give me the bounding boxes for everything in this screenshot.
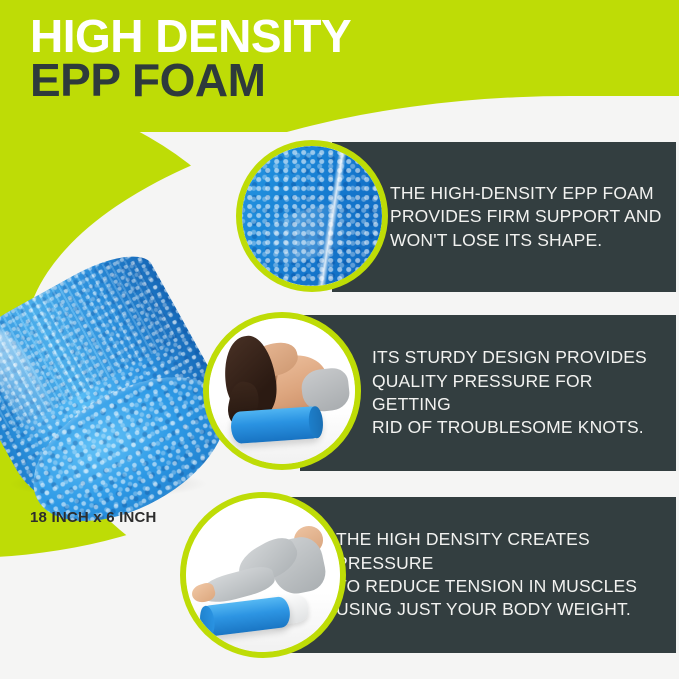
title-line-2: EPP FOAM <box>30 58 351 102</box>
calf-roll-photo <box>186 498 340 652</box>
upper-back-roll-photo <box>209 318 355 464</box>
title-line-1: HIGH DENSITY <box>30 14 351 58</box>
feature-text-1: THE HIGH-DENSITY EPP FOAM PROVIDES FIRM … <box>390 182 662 252</box>
feature-badge-1 <box>236 140 388 292</box>
feature-text-3: THE HIGH DENSITY CREATES PRESSURE TO RED… <box>336 528 676 621</box>
page-title: HIGH DENSITY EPP FOAM <box>30 14 351 102</box>
feature-badge-3 <box>180 492 346 658</box>
foam-closeup-photo <box>242 146 382 286</box>
product-infographic: HIGH DENSITY EPP FOAM THE HIGH-DENSITY E… <box>0 0 679 679</box>
foam-roller-small <box>230 405 323 443</box>
feature-text-2: ITS STURDY DESIGN PROVIDES QUALITY PRESS… <box>372 346 676 439</box>
feature-badge-2 <box>203 312 361 470</box>
dimension-label: 18 INCH x 6 INCH <box>30 509 157 526</box>
